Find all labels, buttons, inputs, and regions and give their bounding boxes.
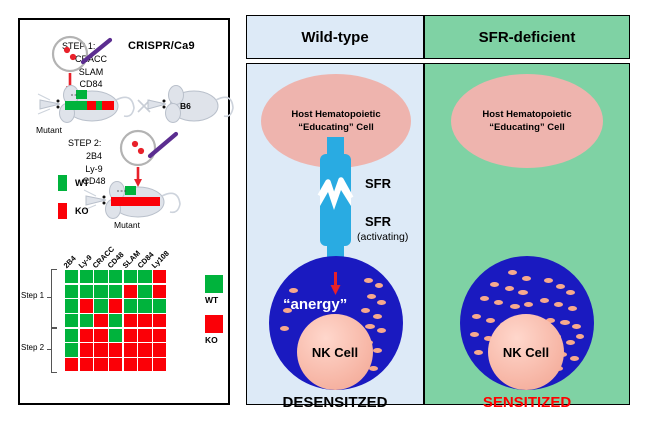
genotype-cell bbox=[124, 343, 137, 356]
inhibition-arrow-icon bbox=[328, 272, 343, 296]
genotype-cell bbox=[124, 299, 137, 312]
legend-item-wt: WT bbox=[58, 175, 89, 191]
genotype-cell bbox=[153, 314, 166, 327]
host-cell-line1: Host Hematopoietic bbox=[482, 108, 571, 121]
step2-gene: 2B4 bbox=[64, 150, 124, 163]
genotype-cell bbox=[65, 314, 78, 327]
wt-ko-legend-grid: WT KO bbox=[205, 275, 223, 355]
sfr-label-2: SFR bbox=[365, 214, 391, 229]
wt-legend-label: WT bbox=[205, 295, 223, 305]
genotype-cell bbox=[80, 358, 93, 371]
host-cell-line2: “Educating” Cell bbox=[298, 121, 373, 134]
genotype-cell bbox=[80, 343, 93, 356]
sfr-deficient-panel: Host Hematopoietic “Educating” Cell bbox=[424, 63, 630, 405]
mutant-caption-1: Mutant bbox=[36, 125, 62, 135]
genotype-cell bbox=[109, 270, 122, 283]
genotype-cell bbox=[94, 343, 107, 356]
grid-col-header: 2B4 bbox=[62, 254, 78, 270]
genotype-cell bbox=[138, 358, 151, 371]
left-panel: CRISPR/Ca9 STEP 1: CRACC SLAM CD84 Ly-10… bbox=[18, 18, 230, 405]
genotype-cell bbox=[94, 358, 107, 371]
genotype-matrix bbox=[65, 270, 166, 371]
step1-bracket bbox=[51, 269, 57, 328]
genotype-cell bbox=[124, 358, 137, 371]
genotype-cell bbox=[153, 299, 166, 312]
genotype-grid bbox=[65, 270, 166, 371]
genotype-cell bbox=[153, 358, 166, 371]
genotype-cell bbox=[138, 270, 151, 283]
genotype-cell bbox=[138, 299, 151, 312]
nk-cell-label: NK Cell bbox=[503, 345, 549, 360]
genotype-cell bbox=[80, 270, 93, 283]
grid-col-header: Ly108 bbox=[150, 249, 171, 270]
genotype-cell bbox=[65, 270, 78, 283]
genotype-cell bbox=[80, 329, 93, 342]
nk-nucleus-wt: NK Cell bbox=[297, 314, 373, 390]
genotype-cell bbox=[80, 314, 93, 327]
wt-ko-legend-top: WT KO bbox=[58, 175, 89, 231]
sfr-label: SFR bbox=[365, 176, 391, 191]
mutant-caption-2: Mutant bbox=[114, 220, 140, 230]
sfr-deficient-status: SENSITIZED bbox=[425, 394, 629, 411]
step1-bracket-tick bbox=[47, 297, 51, 298]
genotype-cell bbox=[138, 343, 151, 356]
genotype-cell bbox=[65, 299, 78, 312]
ko-swatch-icon bbox=[205, 315, 223, 333]
grid-column-headers: 2B4 Ly-9 CRACC CD48 SLAM CD84 Ly108 bbox=[66, 242, 186, 270]
genotype-cell bbox=[153, 343, 166, 356]
sfr-sublabel: (activating) bbox=[357, 231, 408, 243]
step2-label: STEP 2: bbox=[68, 138, 101, 148]
genotype-cell bbox=[124, 329, 137, 342]
genotype-cell bbox=[109, 314, 122, 327]
genotype-cell bbox=[94, 299, 107, 312]
mutant-mouse-2 bbox=[80, 178, 184, 224]
step2-gene: Ly-9 bbox=[64, 163, 124, 176]
genotype-cell bbox=[153, 329, 166, 342]
ko-legend-label: KO bbox=[75, 206, 89, 216]
genotype-cell bbox=[124, 314, 137, 327]
sfr-zigzag-icon bbox=[320, 176, 351, 228]
genotype-cell bbox=[65, 358, 78, 371]
step2-bracket bbox=[51, 328, 57, 373]
genotype-cell bbox=[124, 270, 137, 283]
nk-cell-outer-sd: NK Cell bbox=[460, 256, 594, 390]
genotype-cell bbox=[109, 329, 122, 342]
genotype-cell bbox=[153, 270, 166, 283]
genotype-cell bbox=[94, 285, 107, 298]
step2-bracket-tick bbox=[47, 349, 51, 350]
genotype-cell bbox=[94, 270, 107, 283]
b6-caption: B6 bbox=[180, 101, 191, 111]
genotype-cell bbox=[109, 299, 122, 312]
wt-swatch-icon bbox=[58, 175, 67, 191]
wild-type-header: Wild-type bbox=[246, 15, 424, 59]
host-educating-cell-sd: Host Hematopoietic “Educating” Cell bbox=[451, 74, 603, 168]
ko-legend-label: KO bbox=[205, 335, 223, 345]
genotype-cell bbox=[109, 358, 122, 371]
genotype-cell bbox=[65, 285, 78, 298]
genotype-cell bbox=[109, 343, 122, 356]
step1-bracket-label: Step 1 bbox=[21, 291, 44, 300]
genotype-cell bbox=[94, 314, 107, 327]
ko-swatch-icon bbox=[58, 203, 67, 219]
mutant-mouse-1 bbox=[34, 82, 138, 128]
nk-cell-label: NK Cell bbox=[312, 345, 358, 360]
wild-type-panel: Host Hematopoietic “Educating” Cell SFR … bbox=[246, 63, 424, 405]
genotype-cell bbox=[138, 314, 151, 327]
genotype-cell bbox=[138, 285, 151, 298]
genotype-cell bbox=[80, 285, 93, 298]
genotype-cell bbox=[65, 343, 78, 356]
step2-bracket-label: Step 2 bbox=[21, 343, 44, 352]
host-cell-line1: Host Hematopoietic bbox=[291, 108, 380, 121]
legend-item-ko: KO bbox=[58, 203, 89, 219]
sfr-deficient-header: SFR-deficient bbox=[424, 15, 630, 59]
crispr-title: CRISPR/Ca9 bbox=[128, 40, 195, 52]
genotype-cell bbox=[124, 285, 137, 298]
anergy-label: “anergy” bbox=[283, 296, 347, 313]
wt-legend-label: WT bbox=[75, 178, 89, 188]
genotype-cell bbox=[153, 285, 166, 298]
figure-root: CRISPR/Ca9 STEP 1: CRACC SLAM CD84 Ly-10… bbox=[0, 0, 650, 423]
wt-swatch-icon bbox=[205, 275, 223, 293]
wild-type-status: DESENSITZED bbox=[247, 394, 423, 411]
host-cell-line2: “Educating” Cell bbox=[489, 121, 564, 134]
b6-mouse bbox=[148, 82, 234, 128]
genotype-cell bbox=[138, 329, 151, 342]
nk-nucleus-sd: NK Cell bbox=[488, 314, 564, 390]
genotype-cell bbox=[65, 329, 78, 342]
genotype-cell bbox=[109, 285, 122, 298]
genotype-cell bbox=[94, 329, 107, 342]
genotype-cell bbox=[80, 299, 93, 312]
